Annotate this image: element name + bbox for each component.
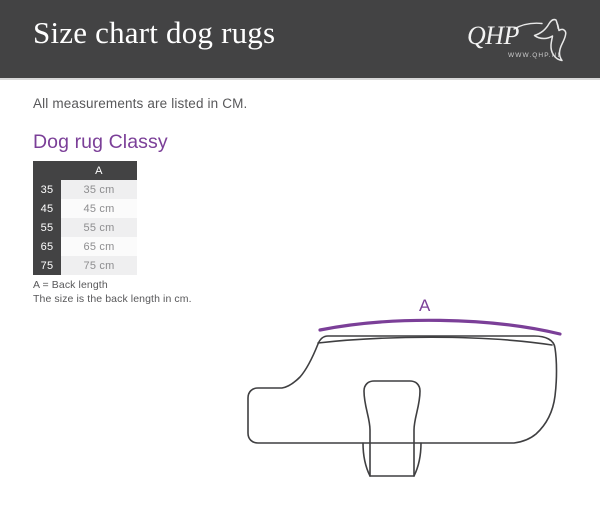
qhp-logo: QHP WWW.QHP.NL xyxy=(464,17,582,65)
row-value-a: 75 cm xyxy=(61,256,137,275)
measurement-arc-a xyxy=(320,320,560,334)
row-size-label: 55 xyxy=(33,218,61,237)
header-divider xyxy=(0,78,600,80)
table-row: 75 75 cm xyxy=(33,256,137,275)
dog-rug-diagram xyxy=(230,288,600,488)
rug-outline-path xyxy=(248,336,557,443)
leg-strap-flare-right xyxy=(414,443,421,476)
row-value-a: 35 cm xyxy=(61,180,137,199)
leg-strap-flare-left xyxy=(363,443,370,476)
size-table: A 35 35 cm 45 45 cm 55 55 cm 65 65 cm 75 xyxy=(33,161,137,275)
intro-text: All measurements are listed in CM. xyxy=(33,96,247,111)
rug-back-seam xyxy=(318,337,552,345)
leg-strap-path xyxy=(364,381,420,476)
svg-text:WWW.QHP.NL: WWW.QHP.NL xyxy=(508,52,562,59)
row-size-label: 75 xyxy=(33,256,61,275)
row-size-label: 35 xyxy=(33,180,61,199)
table-body: 35 35 cm 45 45 cm 55 55 cm 65 65 cm 75 7… xyxy=(33,180,137,275)
row-size-label: 65 xyxy=(33,237,61,256)
row-value-a: 45 cm xyxy=(61,199,137,218)
table-header-row: A xyxy=(33,161,137,180)
row-value-a: 55 cm xyxy=(61,218,137,237)
table-row: 35 35 cm xyxy=(33,180,137,199)
legend-note: A = Back length xyxy=(33,279,108,291)
size-chart-page: Size chart dog rugs QHP WWW.QHP.NL All m… xyxy=(0,0,600,514)
page-title: Size chart dog rugs xyxy=(33,15,275,51)
description-note: The size is the back length in cm. xyxy=(33,293,192,305)
table-row: 55 55 cm xyxy=(33,218,137,237)
section-title: Dog rug Classy xyxy=(33,131,168,154)
measurement-label-a: A xyxy=(419,296,431,316)
row-size-label: 45 xyxy=(33,199,61,218)
table-corner-cell xyxy=(33,161,61,180)
table-header: A xyxy=(33,161,137,180)
table-column-header-a: A xyxy=(61,161,137,180)
qhp-wordmark: QHP xyxy=(467,21,520,50)
table-row: 65 65 cm xyxy=(33,237,137,256)
table-row: 45 45 cm xyxy=(33,199,137,218)
qhp-url-text: WWW.QHP.NL xyxy=(508,52,562,59)
svg-text:QHP: QHP xyxy=(467,21,520,50)
row-value-a: 65 cm xyxy=(61,237,137,256)
